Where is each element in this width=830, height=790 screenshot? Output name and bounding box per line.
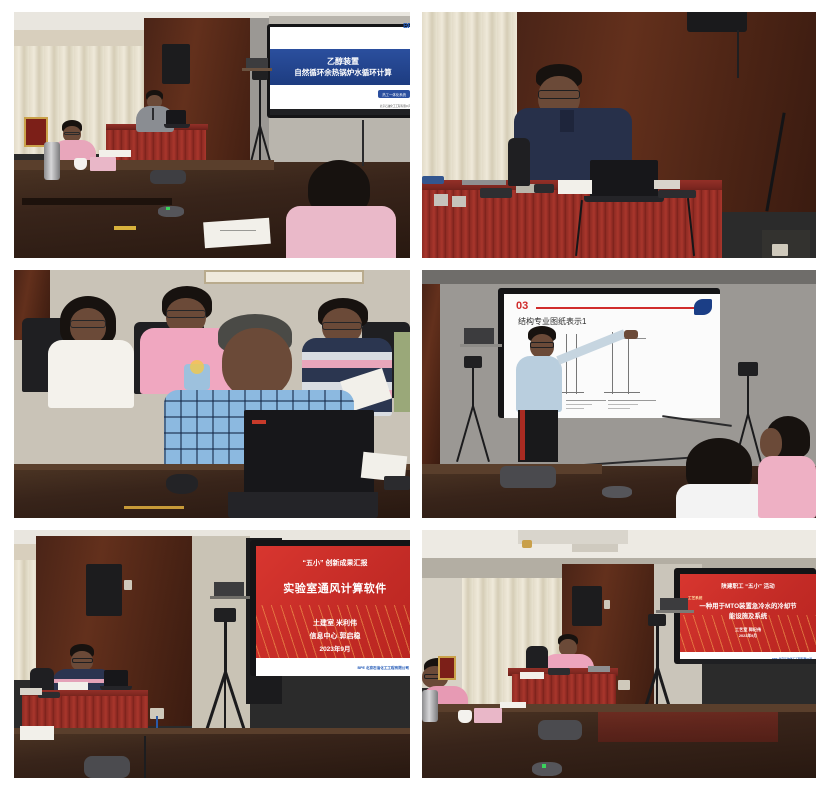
shelf-projector: [660, 598, 688, 610]
conference-speakerphone: [500, 466, 556, 488]
photo-tile-4[interactable]: 03 结构专业图纸表示1: [422, 270, 816, 518]
thermos-flask: [44, 142, 60, 180]
glasses-icon: [538, 90, 580, 99]
photo-collage: 乙醇装置 自然循环余热锅炉水循环计算 热工一体化系统 北京石油化工工程有限公司 …: [0, 0, 830, 790]
conference-table: [14, 730, 410, 778]
teacup: [74, 158, 87, 170]
camera-tripod-left: [454, 356, 494, 466]
slide-date: 2023年9月: [256, 643, 410, 653]
slide-footer: 北京石油化工工程有限公司: [380, 104, 410, 108]
slide-author-1: 土建室 米利伟: [256, 618, 410, 628]
name-card: [474, 708, 502, 723]
ceiling-speaker-icon: [572, 586, 602, 626]
slide-logo: BPE 北京石油化工工程有限公司: [357, 666, 409, 671]
slide-eyebrow: “五小” 创新成果汇报: [256, 558, 410, 568]
slide-red-title: “五小” 创新成果汇报 实验室通风计算软件 土建室 米利伟 信息中心 郭启稳 2…: [256, 546, 410, 676]
documents: [203, 218, 271, 249]
slide-title: 乙醇装置: [270, 56, 410, 67]
photo-tile-6[interactable]: 陕建职工 “五小” 活动 工艺系统 一种用于MTO装置急冷水的冷却节 能设施及系…: [422, 530, 816, 778]
person-foreground-2: [758, 416, 816, 518]
conference-speakerphone: [150, 170, 186, 184]
bpe-logo-icon: BPE: [403, 23, 410, 30]
laptop: [590, 160, 658, 198]
conference-microphone: [532, 762, 562, 776]
person-presenter: [512, 326, 578, 466]
photo-tile-5[interactable]: “五小” 创新成果汇报 实验室通风计算软件 土建室 米利伟 信息中心 郭启稳 2…: [14, 530, 410, 778]
shelf-projector: [246, 58, 268, 68]
wall-display: 乙醇装置 自然循环余热锅炉水循环计算 热工一体化系统 北京石油化工工程有限公司 …: [267, 24, 410, 118]
slide-author-2: 信息中心 郭启稳: [256, 631, 410, 641]
wall-display: 陕建职工 “五小” 活动 工艺系统 一种用于MTO装置急冷水的冷却节 能设施及系…: [674, 568, 816, 664]
slide-title: 实验室通风计算软件: [256, 580, 410, 596]
person-foreground: [286, 160, 396, 258]
slide-date: 2023年9月: [680, 634, 816, 639]
computer-mouse: [166, 474, 198, 494]
photo-tile-2[interactable]: [422, 12, 816, 258]
slide-eyebrow: 陕建职工 “五小” 活动: [680, 582, 816, 590]
slide-red-title: 陕建职工 “五小” 活动 工艺系统 一种用于MTO装置急冷水的冷却节 能设施及系…: [680, 574, 816, 664]
name-card: [90, 157, 116, 171]
wall-outlet: [618, 680, 630, 690]
slide-subtitle: 自然循环余热锅炉水循环计算: [270, 67, 410, 78]
teacup: [458, 710, 472, 723]
ceiling-speaker-icon: [162, 44, 190, 84]
wall-display: “五小” 创新成果汇报 实验室通风计算软件 土建室 米利伟 信息中心 郭启稳 2…: [250, 540, 410, 676]
shelf-projector: [214, 582, 244, 596]
ceiling-speaker-icon: [86, 564, 122, 616]
framed-artwork: [204, 270, 364, 284]
slide-tag: 热工一体化系统: [378, 90, 410, 98]
conference-microphone: [158, 206, 184, 217]
person-attendee-5: [394, 332, 410, 412]
thermos-flask: [422, 690, 438, 722]
conference-speakerphone: [84, 756, 130, 778]
photo-tile-3[interactable]: [14, 270, 410, 518]
company-logo-icon: [694, 299, 712, 315]
person-foreground-1: [676, 438, 770, 518]
shelf-projector: [464, 328, 494, 344]
slide-title-line-1: 一种用于MTO装置急冷水的冷却节: [680, 601, 816, 610]
person-attendee-1: [48, 296, 134, 408]
taskbar: [270, 109, 410, 115]
slide-blue-title: 乙醇装置 自然循环余热锅炉水循环计算 热工一体化系统 北京石油化工工程有限公司: [270, 27, 410, 115]
conference-speakerphone: [538, 720, 582, 740]
photo-tile-1[interactable]: 乙醇装置 自然循环余热锅炉水循环计算 热工一体化系统 北京石油化工工程有限公司 …: [14, 12, 410, 258]
slide-author-1: 工艺室 郭纪伟: [680, 627, 816, 633]
slide-title-line-2: 能设施及系统: [680, 611, 816, 620]
slide-section-number: 03: [516, 300, 528, 312]
